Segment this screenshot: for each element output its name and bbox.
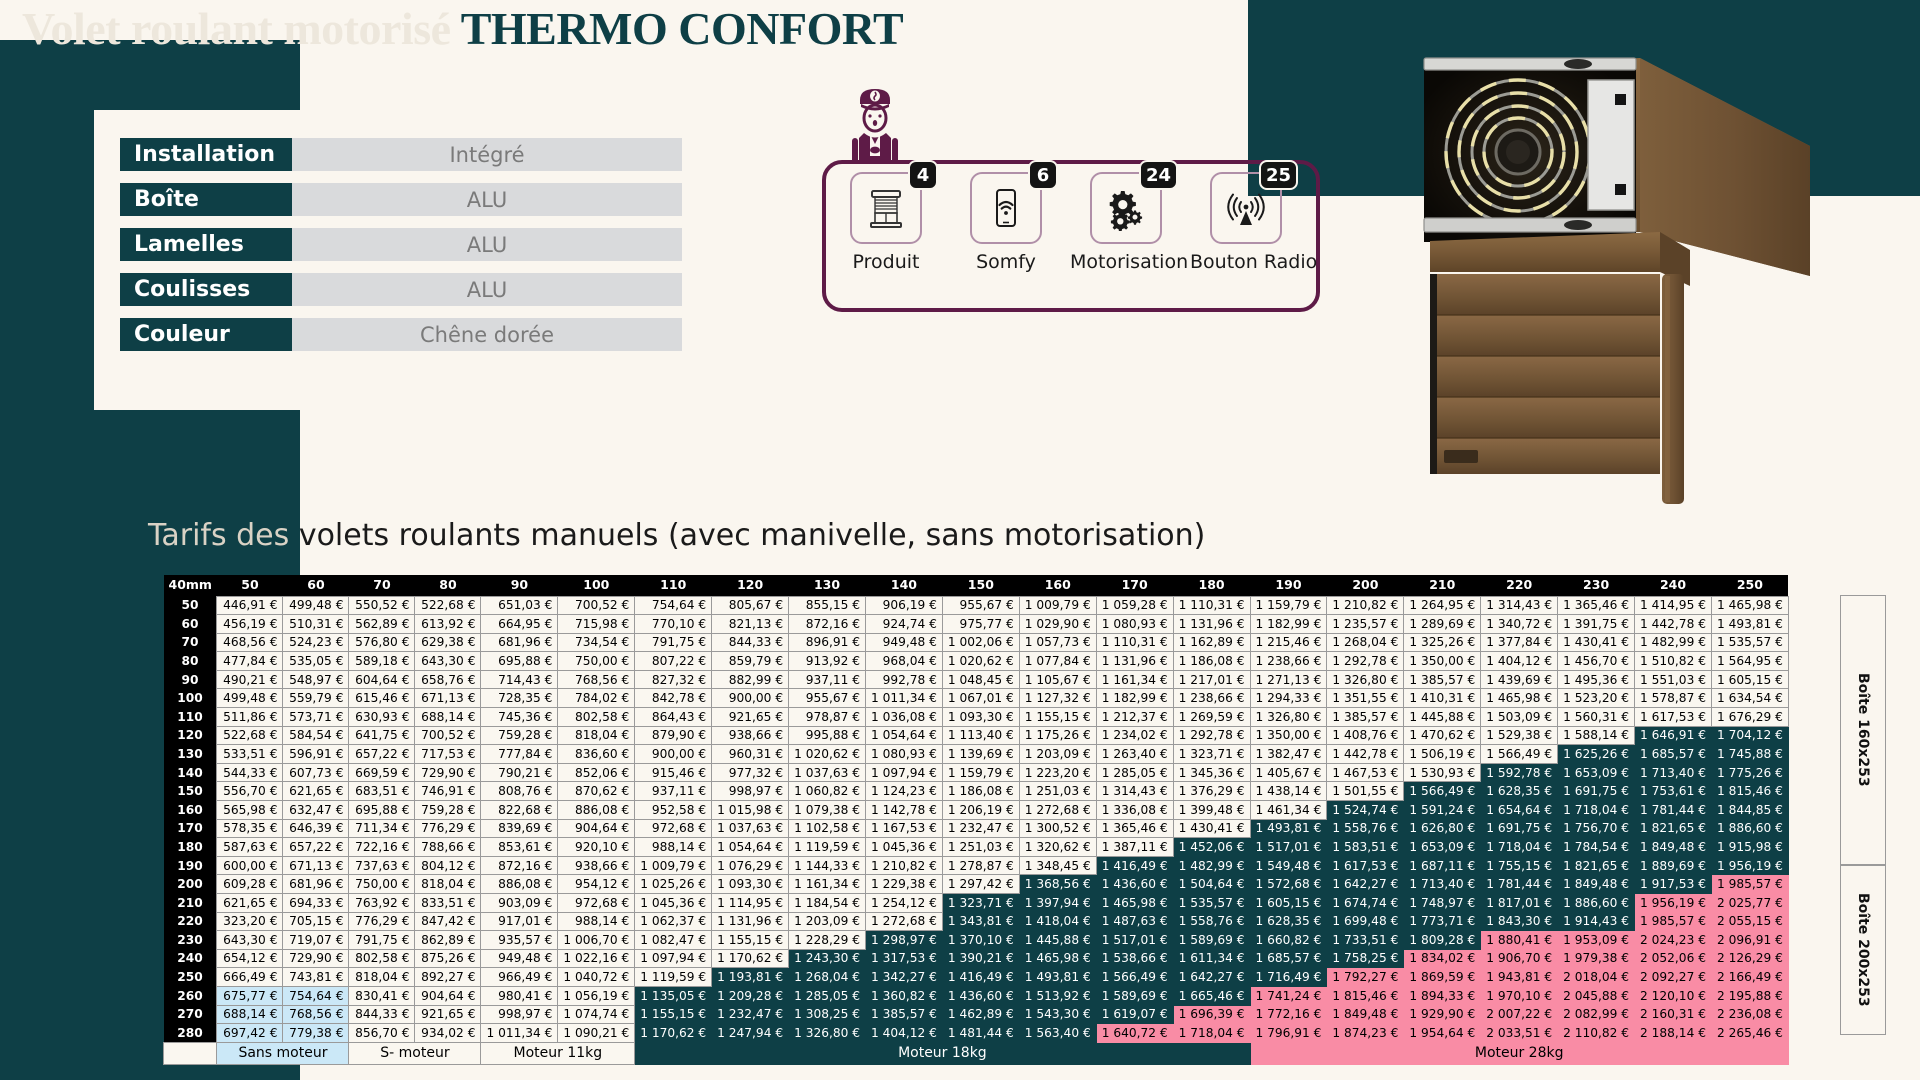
page-title-light: Volet roulant motorisé	[22, 3, 461, 54]
price-table-col-header: 170	[1096, 575, 1173, 596]
price-cell: 1 619,07 €	[1096, 1005, 1173, 1024]
price-cell: 1 002,06 €	[942, 633, 1019, 652]
price-table-row-header: 60	[164, 615, 217, 634]
price-cell: 1 943,81 €	[1481, 968, 1558, 987]
price-cell: 1 074,74 €	[558, 1005, 635, 1024]
price-cell: 978,87 €	[789, 708, 866, 727]
price-cell: 1 325,26 €	[1404, 633, 1481, 652]
price-cell: 1 470,62 €	[1404, 726, 1481, 745]
price-cell: 754,64 €	[635, 596, 712, 615]
price-table-row-header: 210	[164, 894, 217, 913]
price-cell: 1 611,34 €	[1173, 949, 1250, 968]
price-cell: 705,15 €	[283, 912, 349, 931]
price-cell: 2 096,91 €	[1711, 931, 1788, 950]
price-cell: 988,14 €	[635, 838, 712, 857]
price-cell: 1 467,53 €	[1327, 763, 1404, 782]
product-photo-roller-shutter	[1400, 36, 1880, 536]
price-table-row: 90490,21 €548,97 €604,64 €658,76 €714,43…	[164, 670, 1789, 689]
price-cell: 1 886,60 €	[1558, 894, 1635, 913]
price-cell: 1 781,44 €	[1635, 801, 1712, 820]
price-cell: 980,41 €	[481, 986, 558, 1005]
price-table-row-header: 220	[164, 912, 217, 931]
price-cell: 1 915,98 €	[1711, 838, 1788, 857]
price-table-col-header: 240	[1635, 575, 1712, 596]
price-cell: 1 796,91 €	[1250, 1024, 1327, 1043]
price-cell: 1 054,64 €	[712, 838, 789, 857]
price-cell: 1 821,65 €	[1558, 856, 1635, 875]
price-cell: 1 716,49 €	[1250, 968, 1327, 987]
price-cell: 1 254,12 €	[865, 894, 942, 913]
price-cell: 1 676,29 €	[1711, 708, 1788, 727]
feature-produit[interactable]: 4 Produit	[830, 172, 942, 273]
price-cell: 1 482,99 €	[1173, 856, 1250, 875]
price-cell: 1 144,33 €	[789, 856, 866, 875]
price-cell: 643,30 €	[415, 652, 481, 671]
price-cell: 1 589,69 €	[1173, 931, 1250, 950]
price-cell: 791,75 €	[635, 633, 712, 652]
price-cell: 1 418,04 €	[1019, 912, 1096, 931]
price-cell: 446,91 €	[217, 596, 283, 615]
price-cell: 600,00 €	[217, 856, 283, 875]
price-cell: 1 264,95 €	[1404, 596, 1481, 615]
price-cell: 510,31 €	[283, 615, 349, 634]
page-title: Volet roulant motorisé THERMO CONFORT	[22, 2, 903, 55]
price-cell: 550,52 €	[349, 596, 415, 615]
price-cell: 886,08 €	[481, 875, 558, 894]
price-cell: 830,41 €	[349, 986, 415, 1005]
price-cell: 1 397,94 €	[1019, 894, 1096, 913]
price-cell: 1 504,64 €	[1173, 875, 1250, 894]
price-cell: 1 849,48 €	[1327, 1005, 1404, 1024]
price-cell: 1 687,11 €	[1404, 856, 1481, 875]
price-cell: 734,54 €	[558, 633, 635, 652]
spec-row: Lamelles ALU	[120, 228, 720, 261]
spec-row: Boîte ALU	[120, 183, 720, 216]
roller-shutter-icon: 4	[850, 172, 922, 244]
price-cell: 754,64 €	[283, 986, 349, 1005]
price-table-row: 160565,98 €632,47 €695,88 €759,28 €822,6…	[164, 801, 1789, 820]
price-cell: 1 503,09 €	[1481, 708, 1558, 727]
price-cell: 604,64 €	[349, 670, 415, 689]
price-cell: 1 105,67 €	[1019, 670, 1096, 689]
price-cell: 1 212,37 €	[1096, 708, 1173, 727]
price-cell: 1 558,76 €	[1173, 912, 1250, 931]
price-cell: 1 062,37 €	[635, 912, 712, 931]
price-cell: 573,71 €	[283, 708, 349, 727]
price-cell: 896,91 €	[789, 633, 866, 652]
price-cell: 921,65 €	[415, 1005, 481, 1024]
spec-value-coulisses: ALU	[292, 273, 682, 306]
price-cell: 1 297,42 €	[942, 875, 1019, 894]
price-cell: 1 243,30 €	[789, 949, 866, 968]
price-cell: 1 294,33 €	[1250, 689, 1327, 708]
price-cell: 729,90 €	[283, 949, 349, 968]
price-cell: 1 317,53 €	[865, 949, 942, 968]
price-cell: 1 462,89 €	[942, 1005, 1019, 1024]
feature-label-bouton-radio: Bouton Radio	[1190, 251, 1302, 273]
price-cell: 906,19 €	[865, 596, 942, 615]
price-cell: 700,52 €	[558, 596, 635, 615]
price-cell: 1 628,35 €	[1481, 782, 1558, 801]
price-cell: 565,98 €	[217, 801, 283, 820]
price-cell: 657,22 €	[349, 745, 415, 764]
price-cell: 1 215,46 €	[1250, 633, 1327, 652]
price-cell: 499,48 €	[217, 689, 283, 708]
price-cell: 596,91 €	[283, 745, 349, 764]
price-cell: 1 929,90 €	[1404, 1005, 1481, 1024]
price-cell: 1 336,08 €	[1096, 801, 1173, 820]
price-cell: 1 617,53 €	[1327, 856, 1404, 875]
smartphone-wifi-icon: 6	[970, 172, 1042, 244]
price-cell: 621,65 €	[217, 894, 283, 913]
price-cell: 852,06 €	[558, 763, 635, 782]
price-table-row-header: 170	[164, 819, 217, 838]
price-cell: 821,13 €	[712, 615, 789, 634]
price-cell: 695,88 €	[481, 652, 558, 671]
spec-row: Installation Intégré	[120, 138, 720, 171]
price-table-col-header: 120	[712, 575, 789, 596]
price-cell: 1 229,38 €	[865, 875, 942, 894]
price-cell: 1 665,46 €	[1173, 986, 1250, 1005]
price-cell: 1 206,19 €	[942, 801, 1019, 820]
price-cell: 1 370,10 €	[942, 931, 1019, 950]
price-cell: 1 110,31 €	[1096, 633, 1173, 652]
price-cell: 2 188,14 €	[1635, 1024, 1712, 1043]
price-cell: 937,11 €	[789, 670, 866, 689]
price-cell: 1 653,09 €	[1404, 838, 1481, 857]
price-cell: 818,04 €	[349, 968, 415, 987]
price-table-legend: Sans moteurS- moteurMoteur 11kgMoteur 18…	[164, 1042, 1789, 1064]
price-cell: 1 203,09 €	[1019, 745, 1096, 764]
price-cell: 1 849,48 €	[1558, 875, 1635, 894]
spec-row: Couleur Chêne dorée	[120, 318, 720, 351]
price-cell: 1 040,72 €	[558, 968, 635, 987]
price-cell: 1 404,12 €	[1481, 652, 1558, 671]
gears-icon: 24	[1090, 172, 1162, 244]
price-cell: 1 054,64 €	[865, 726, 942, 745]
price-cell: 490,21 €	[217, 670, 283, 689]
price-cell: 1 113,40 €	[942, 726, 1019, 745]
price-cell: 1 617,53 €	[1635, 708, 1712, 727]
price-cell: 1 110,31 €	[1173, 596, 1250, 615]
price-cell: 777,84 €	[481, 745, 558, 764]
spec-key-lamelles: Lamelles	[120, 228, 292, 261]
price-table-col-header: 70	[349, 575, 415, 596]
price-cell: 2 166,49 €	[1711, 968, 1788, 987]
box-label-160x253-text: Boîte 160x253	[1855, 673, 1871, 787]
price-cell: 1 272,68 €	[1019, 801, 1096, 820]
price-cell: 1 184,54 €	[789, 894, 866, 913]
price-cell: 651,03 €	[481, 596, 558, 615]
price-cell: 1 232,47 €	[942, 819, 1019, 838]
box-label-200x253: Boîte 200x253	[1840, 865, 1886, 1035]
price-cell: 1 753,61 €	[1635, 782, 1712, 801]
price-cell: 613,92 €	[415, 615, 481, 634]
price-cell: 1 011,34 €	[865, 689, 942, 708]
price-cell: 750,00 €	[349, 875, 415, 894]
price-cell: 1 300,52 €	[1019, 819, 1096, 838]
price-cell: 1 523,20 €	[1558, 689, 1635, 708]
feature-motorisation[interactable]: 24 Motorisation	[1070, 172, 1182, 273]
price-cell: 1 131,96 €	[712, 912, 789, 931]
price-cell: 892,27 €	[415, 968, 481, 987]
price-cell: 1 186,08 €	[942, 782, 1019, 801]
spec-key-installation: Installation	[120, 138, 292, 171]
price-cell: 1 817,01 €	[1481, 894, 1558, 913]
price-cell: 1 874,23 €	[1327, 1024, 1404, 1043]
legend-item: Moteur 28kg	[1250, 1042, 1788, 1064]
price-table-row-header: 250	[164, 968, 217, 987]
price-cell: 1 733,51 €	[1327, 931, 1404, 950]
price-cell: 1 102,58 €	[789, 819, 866, 838]
price-cell: 844,33 €	[712, 633, 789, 652]
price-cell: 630,93 €	[349, 708, 415, 727]
price-table-row-header: 80	[164, 652, 217, 671]
price-cell: 1 501,55 €	[1327, 782, 1404, 801]
price-cell: 1 442,78 €	[1327, 745, 1404, 764]
price-cell: 915,46 €	[635, 763, 712, 782]
price-cell: 903,09 €	[481, 894, 558, 913]
price-cell: 1 495,36 €	[1558, 670, 1635, 689]
table-subtitle: Tarifs des volets roulants manuels (avec…	[148, 518, 1205, 553]
price-table-row-header: 270	[164, 1005, 217, 1024]
price-cell: 1 538,66 €	[1096, 949, 1173, 968]
price-cell: 1 985,57 €	[1711, 875, 1788, 894]
price-cell: 1 445,88 €	[1019, 931, 1096, 950]
price-cell: 2 018,04 €	[1558, 968, 1635, 987]
price-table-row: 110511,86 €573,71 €630,93 €688,14 €745,3…	[164, 708, 1789, 727]
price-cell: 1 745,88 €	[1711, 745, 1788, 764]
price-cell: 643,30 €	[217, 931, 283, 950]
price-table-col-header: 230	[1558, 575, 1635, 596]
price-cell: 737,63 €	[349, 856, 415, 875]
price-cell: 1 646,91 €	[1635, 726, 1712, 745]
price-cell: 746,91 €	[415, 782, 481, 801]
price-cell: 1 809,28 €	[1404, 931, 1481, 950]
price-cell: 1 170,62 €	[635, 1024, 712, 1043]
price-table-row: 230643,30 €719,07 €791,75 €862,89 €935,5…	[164, 931, 1789, 950]
price-cell: 844,33 €	[349, 1005, 415, 1024]
price-cell: 1 436,60 €	[942, 986, 1019, 1005]
price-cell: 1 410,31 €	[1404, 689, 1481, 708]
price-cell: 664,95 €	[481, 615, 558, 634]
price-cell: 1 399,48 €	[1173, 801, 1250, 820]
price-cell: 1 543,30 €	[1019, 1005, 1096, 1024]
page-title-dark: THERMO CONFORT	[461, 3, 903, 54]
price-cell: 1 308,25 €	[789, 1005, 866, 1024]
price-cell: 952,58 €	[635, 801, 712, 820]
price-cell: 920,10 €	[558, 838, 635, 857]
price-cell: 977,32 €	[712, 763, 789, 782]
price-cell: 589,18 €	[349, 652, 415, 671]
price-cell: 1 563,40 €	[1019, 1024, 1096, 1043]
price-cell: 1 162,89 €	[1173, 633, 1250, 652]
price-cell: 1 009,79 €	[1019, 596, 1096, 615]
price-cell: 1 513,92 €	[1019, 986, 1096, 1005]
price-table-col-header: 190	[1250, 575, 1327, 596]
price-cell: 729,90 €	[415, 763, 481, 782]
price-cell: 1 748,97 €	[1404, 894, 1481, 913]
price-cell: 1 048,45 €	[942, 670, 1019, 689]
specification-table: Installation Intégré Boîte ALU Lamelles …	[120, 138, 720, 363]
price-cell: 972,68 €	[558, 894, 635, 913]
price-cell: 938,66 €	[558, 856, 635, 875]
price-table-row-header: 190	[164, 856, 217, 875]
price-cell: 1 238,66 €	[1250, 652, 1327, 671]
price-cell: 695,88 €	[349, 801, 415, 820]
price-cell: 717,53 €	[415, 745, 481, 764]
price-cell: 688,14 €	[217, 1005, 283, 1024]
price-cell: 1 387,11 €	[1096, 838, 1173, 857]
price-cell: 763,92 €	[349, 894, 415, 913]
price-cell: 1 970,10 €	[1481, 986, 1558, 1005]
price-table-col-header: 50	[217, 575, 283, 596]
price-cell: 904,64 €	[558, 819, 635, 838]
price-cell: 1 956,19 €	[1635, 894, 1712, 913]
feature-badge: 4	[908, 160, 938, 190]
price-table-row-header: 230	[164, 931, 217, 950]
price-cell: 1 348,45 €	[1019, 856, 1096, 875]
price-cell: 1 741,24 €	[1250, 986, 1327, 1005]
price-cell: 1 634,54 €	[1711, 689, 1788, 708]
price-cell: 822,68 €	[481, 801, 558, 820]
price-cell: 1 517,01 €	[1096, 931, 1173, 950]
price-cell: 1 247,94 €	[712, 1024, 789, 1043]
price-cell: 548,97 €	[283, 670, 349, 689]
price-cell: 1 487,63 €	[1096, 912, 1173, 931]
price-table-col-header: 160	[1019, 575, 1096, 596]
price-cell: 1 781,44 €	[1481, 875, 1558, 894]
price-cell: 791,75 €	[349, 931, 415, 950]
price-cell: 714,43 €	[481, 670, 558, 689]
price-cell: 2 025,77 €	[1711, 894, 1788, 913]
price-cell: 1 368,56 €	[1019, 875, 1096, 894]
price-cell: 1 551,03 €	[1635, 670, 1712, 689]
price-table-row: 180587,63 €657,22 €722,16 €788,66 €853,6…	[164, 838, 1789, 857]
price-cell: 722,16 €	[349, 838, 415, 857]
price-cell: 2 055,15 €	[1711, 912, 1788, 931]
spec-value-boite: ALU	[292, 183, 682, 216]
price-cell: 323,20 €	[217, 912, 283, 931]
price-cell: 657,22 €	[283, 838, 349, 857]
price-cell: 1 685,57 €	[1635, 745, 1712, 764]
price-table-row: 270688,14 €768,56 €844,33 €921,65 €998,9…	[164, 1005, 1789, 1024]
price-cell: 1 097,94 €	[635, 949, 712, 968]
feature-bouton-radio[interactable]: 25 Bouton Radio	[1190, 172, 1302, 273]
legend-item: Moteur 18kg	[635, 1042, 1250, 1064]
price-cell: 1 506,19 €	[1404, 745, 1481, 764]
feature-somfy[interactable]: 6 Somfy	[950, 172, 1062, 273]
price-cell: 535,05 €	[283, 652, 349, 671]
price-cell: 1 815,46 €	[1711, 782, 1788, 801]
price-cell: 2 265,46 €	[1711, 1024, 1788, 1043]
price-table-row: 260675,77 €754,64 €830,41 €904,64 €980,4…	[164, 986, 1789, 1005]
price-cell: 1 953,09 €	[1558, 931, 1635, 950]
price-cell: 1 605,15 €	[1250, 894, 1327, 913]
price-cell: 1 642,27 €	[1173, 968, 1250, 987]
price-cell: 949,48 €	[481, 949, 558, 968]
price-table-col-header: 250	[1711, 575, 1788, 596]
price-table-row: 100499,48 €559,79 €615,46 €671,13 €728,3…	[164, 689, 1789, 708]
price-cell: 1 045,36 €	[865, 838, 942, 857]
price-cell: 2 082,99 €	[1558, 1005, 1635, 1024]
feature-badge: 6	[1028, 160, 1058, 190]
price-cell: 1 268,04 €	[789, 968, 866, 987]
price-cell: 522,68 €	[217, 726, 283, 745]
price-cell: 1 271,13 €	[1250, 670, 1327, 689]
legend-item: S- moteur	[349, 1042, 481, 1064]
price-cell: 658,76 €	[415, 670, 481, 689]
price-cell: 578,35 €	[217, 819, 283, 838]
price-cell: 1 493,81 €	[1711, 615, 1788, 634]
price-cell: 1 269,59 €	[1173, 708, 1250, 727]
price-cell: 1 530,93 €	[1404, 763, 1481, 782]
price-cell: 1 535,57 €	[1711, 633, 1788, 652]
price-table-col-header: 210	[1404, 575, 1481, 596]
price-cell: 1 217,01 €	[1173, 670, 1250, 689]
installer-person-icon	[840, 86, 910, 164]
price-cell: 1 097,94 €	[865, 763, 942, 782]
price-cell: 1 452,06 €	[1173, 838, 1250, 857]
price-cell: 456,19 €	[217, 615, 283, 634]
price-cell: 1 493,81 €	[1250, 819, 1327, 838]
price-cell: 805,67 €	[712, 596, 789, 615]
price-cell: 960,31 €	[712, 745, 789, 764]
price-cell: 882,99 €	[712, 670, 789, 689]
price-cell: 641,75 €	[349, 726, 415, 745]
price-table-row-header: 70	[164, 633, 217, 652]
price-cell: 1 465,98 €	[1711, 596, 1788, 615]
price-cell: 559,79 €	[283, 689, 349, 708]
price-cell: 1 985,57 €	[1635, 912, 1712, 931]
price-table-row-header: 140	[164, 763, 217, 782]
price-cell: 1 365,46 €	[1558, 596, 1635, 615]
price-cell: 1 020,62 €	[942, 652, 1019, 671]
price-cell: 1 127,32 €	[1019, 689, 1096, 708]
radio-signal-icon: 25	[1210, 172, 1282, 244]
price-cell: 1 263,40 €	[1096, 745, 1173, 764]
price-cell: 2 120,10 €	[1635, 986, 1712, 1005]
price-cell: 1 954,64 €	[1404, 1024, 1481, 1043]
price-cell: 938,66 €	[712, 726, 789, 745]
price-cell: 853,61 €	[481, 838, 558, 857]
price-cell: 1 323,71 €	[942, 894, 1019, 913]
price-cell: 1 292,78 €	[1173, 726, 1250, 745]
price-cell: 1 232,47 €	[712, 1005, 789, 1024]
price-cell: 802,58 €	[558, 708, 635, 727]
price-cell: 968,04 €	[865, 652, 942, 671]
price-cell: 1 314,43 €	[1481, 596, 1558, 615]
feature-label-motorisation: Motorisation	[1070, 251, 1182, 273]
price-cell: 1 036,08 €	[865, 708, 942, 727]
price-cell: 1 209,28 €	[712, 986, 789, 1005]
price-table-body: 50446,91 €499,48 €550,52 €522,68 €651,03…	[164, 596, 1789, 1042]
price-cell: 1 775,26 €	[1711, 763, 1788, 782]
price-cell: 1 626,80 €	[1404, 819, 1481, 838]
price-cell: 1 272,68 €	[865, 912, 942, 931]
price-cell: 576,80 €	[349, 633, 415, 652]
price-cell: 1 009,79 €	[635, 856, 712, 875]
price-cell: 1 210,82 €	[1327, 596, 1404, 615]
price-table-row: 280697,42 €779,38 €856,70 €934,02 €1 011…	[164, 1024, 1789, 1043]
price-cell: 1 704,12 €	[1711, 726, 1788, 745]
price-cell: 1 718,04 €	[1481, 838, 1558, 857]
price-table-col-header: 180	[1173, 575, 1250, 596]
price-cell: 1 351,55 €	[1327, 689, 1404, 708]
price-table-header-row: 40mm506070809010011012013014015016017018…	[164, 575, 1789, 596]
price-cell: 1 343,81 €	[942, 912, 1019, 931]
price-cell: 818,04 €	[558, 726, 635, 745]
